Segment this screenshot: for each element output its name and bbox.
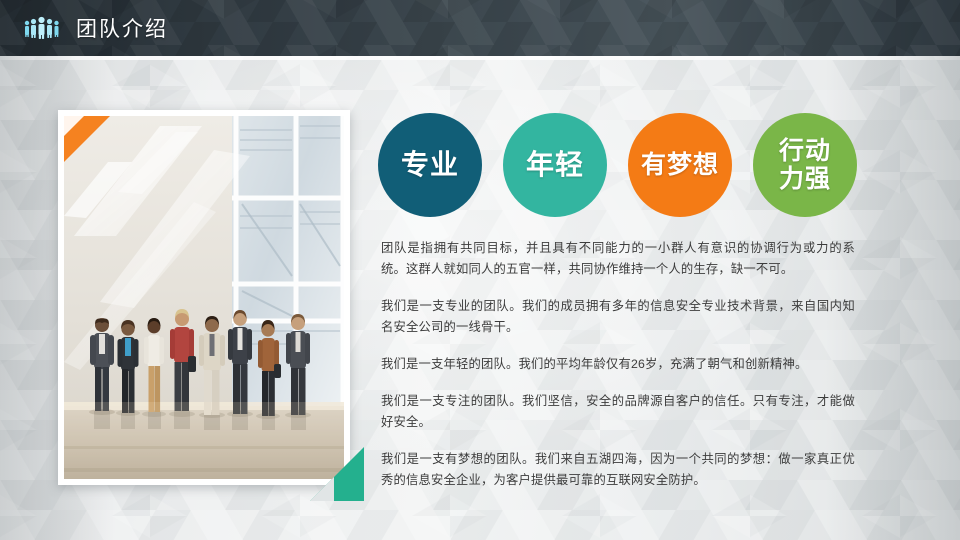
slide-team-introduction: 团队介绍: [0, 0, 960, 540]
value-circle-label-line1: 行动: [779, 137, 831, 165]
value-circle-label: 年轻: [526, 149, 584, 180]
paragraph: 团队是指拥有共同目标，并且具有不同能力的一小群人有意识的协调行为或力的系统。这群…: [381, 238, 855, 280]
team-description-text: 团队是指拥有共同目标，并且具有不同能力的一小群人有意识的协调行为或力的系统。这群…: [381, 238, 855, 491]
value-circle-label: 行动 力强: [779, 137, 831, 193]
value-circle-action[interactable]: 行动 力强: [753, 113, 857, 217]
paragraph: 我们是一支有梦想的团队。我们来自五湖四海，因为一个共同的梦想：做一家真正优秀的信…: [381, 449, 855, 491]
header-content: 团队介绍: [22, 0, 168, 56]
team-photo-card: [58, 110, 350, 485]
value-circle-label-line2: 力强: [779, 165, 831, 193]
paragraph: 我们是一支专注的团队。我们坚信，安全的品牌源自客户的信任。只有专注，才能做好安全…: [381, 391, 855, 433]
value-circle-dreamer[interactable]: 有梦想: [628, 113, 732, 217]
value-circle-professional[interactable]: 专业: [378, 113, 482, 217]
value-circles-group: 专业 年轻 有梦想 行动 力强: [378, 113, 848, 217]
photo-corner-accent-orange-icon: [64, 116, 110, 162]
header-divider: [0, 56, 960, 60]
value-circle-label: 专业: [401, 149, 459, 180]
paragraph: 我们是一支专业的团队。我们的成员拥有多年的信息安全专业技术背景，来自国内知名安全…: [381, 296, 855, 338]
photo-corner-accent-teal-icon: [310, 447, 364, 501]
team-photo: [64, 116, 344, 479]
value-circle-label: 有梦想: [641, 151, 719, 179]
value-circle-young[interactable]: 年轻: [503, 113, 607, 217]
slide-header-bar: 团队介绍: [0, 0, 960, 56]
paragraph: 我们是一支年轻的团队。我们的平均年龄仅有26岁，充满了朝气和创新精神。: [381, 354, 855, 375]
page-title: 团队介绍: [76, 13, 168, 43]
team-people-icon: [22, 15, 62, 41]
